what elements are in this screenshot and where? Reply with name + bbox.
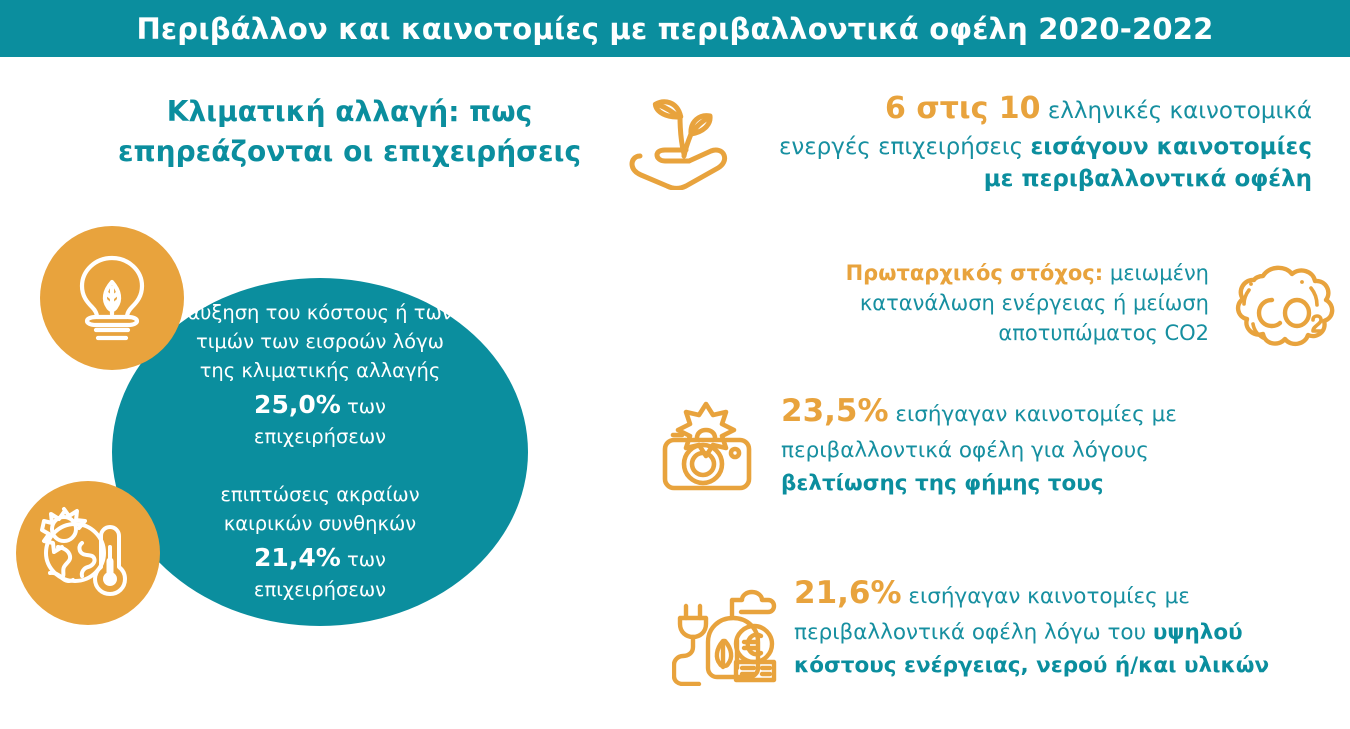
stat-block-primary-goal: Πρωταρχικός στόχος: μειωμένη κατανάλωση … — [790, 258, 1335, 366]
stat-4-line2-bold: υψηλού — [1153, 620, 1243, 645]
circle-cost-line-2: τιμών των εισροών λόγω — [187, 328, 452, 357]
stat-2-label: Πρωταρχικός στόχος: — [846, 261, 1104, 285]
energy-cost-icon — [672, 582, 778, 686]
circle-weather-value: 21,4% — [254, 543, 341, 572]
circle-weather-value-suffix: των — [341, 548, 386, 571]
stat-text-six-in-ten: 6 στις 10 ελληνικές καινοτομικά ενεργές … — [752, 88, 1312, 196]
camera-flash-icon — [655, 396, 759, 496]
stat-1-value-tail: ελληνικές καινοτομικά — [1041, 98, 1312, 124]
stat-4-line2-regular: περιβαλλοντικά οφέλη λόγω του — [794, 620, 1153, 645]
circle-cost-line-5: επιχειρήσεων — [187, 423, 452, 452]
stat-icon-wrapper-3 — [655, 396, 759, 500]
stat-2-line-3: αποτυπώματος CO2 — [790, 318, 1209, 348]
stat-text-primary-goal: Πρωταρχικός στόχος: μειωμένη κατανάλωση … — [790, 258, 1209, 349]
stat-3-value: 23,5% — [781, 393, 889, 429]
left-heading-line-2: επηρεάζονται οι επιχειρήσεις — [62, 132, 637, 172]
circle-stat-block-cost: αύξηση του κόστους ή των τιμών των εισρο… — [187, 299, 452, 451]
stat-3-line-1: 23,5% εισήγαγαν καινοτομίες με — [781, 388, 1261, 435]
circle-stat-block-weather: επιπτώσεις ακραίων καιρικών συνθηκών 21,… — [220, 481, 419, 605]
stat-1-line-3: με περιβαλλοντικά οφέλη — [752, 163, 1312, 196]
lightbulb-leaf-icon — [69, 252, 155, 344]
stat-block-energy-cost: 21,6% εισήγαγαν καινοτομίες με περιβαλλο… — [672, 570, 1342, 690]
stat-3-line-2: περιβαλλοντικά οφέλη για λόγους — [781, 435, 1261, 468]
stat-4-value: 21,6% — [794, 575, 902, 611]
stat-4-line-3: κόστους ενέργειας, νερού ή/και υλικών — [794, 650, 1314, 683]
circle-cost-value-row: 25,0% των — [187, 386, 452, 423]
stat-2-line-1: Πρωταρχικός στόχος: μειωμένη — [790, 258, 1209, 288]
hand-sprout-icon — [628, 94, 746, 190]
stat-4-line-1: 21,6% εισήγαγαν καινοτομίες με — [794, 570, 1314, 617]
left-heading-line-1: Κλιματική αλλαγή: πως — [62, 92, 637, 132]
stat-1-line-2: ενεργές επιχειρήσεις εισάγουν καινοτομίε… — [752, 131, 1312, 164]
page-title: Περιβάλλον και καινοτομίες με περιβαλλον… — [136, 12, 1213, 46]
circle-cost-value: 25,0% — [254, 390, 341, 419]
stat-2-label-tail: μειωμένη — [1103, 261, 1209, 285]
badge-extreme-weather — [16, 481, 160, 625]
sun-globe-thermometer-icon — [36, 503, 140, 603]
circle-cost-line-3: της κλιματικής αλλαγής — [187, 357, 452, 386]
stat-block-six-in-ten: 6 στις 10 ελληνικές καινοτομικά ενεργές … — [628, 88, 1318, 196]
stat-4-line-2: περιβαλλοντικά οφέλη λόγω του υψηλού — [794, 617, 1314, 650]
circle-cost-value-suffix: των — [341, 395, 386, 418]
stat-1-value: 6 στις 10 — [885, 91, 1041, 126]
circle-weather-line-2: καιρικών συνθηκών — [220, 510, 419, 539]
circle-weather-line-1: επιπτώσεις ακραίων — [220, 481, 419, 510]
stat-1-line2-bold: εισάγουν καινοτομίες — [1030, 134, 1312, 160]
stat-icon-wrapper-2 — [1227, 262, 1335, 366]
stat-icon-wrapper-1 — [628, 94, 746, 194]
stat-1-line2-regular: ενεργές επιχειρήσεις — [779, 134, 1031, 160]
co2-cloud-icon — [1227, 262, 1335, 362]
stat-4-value-tail: εισήγαγαν καινοτομίες με — [902, 584, 1190, 609]
header-bar: Περιβάλλον και καινοτομίες με περιβαλλον… — [0, 0, 1350, 57]
infographic-page: Περιβάλλον και καινοτομίες με περιβαλλον… — [0, 0, 1350, 729]
circle-weather-line-4: επιχειρήσεων — [220, 576, 419, 605]
badge-lightbulb — [40, 226, 184, 370]
stat-2-line-2: κατανάλωση ενέργειας ή μείωση — [790, 288, 1209, 318]
stat-text-energy-cost: 21,6% εισήγαγαν καινοτομίες με περιβαλλο… — [794, 570, 1314, 682]
stat-3-line-3: βελτίωσης της φήμης τους — [781, 468, 1261, 501]
stat-1-line-1: 6 στις 10 ελληνικές καινοτομικά — [752, 88, 1312, 131]
stat-block-reputation: 23,5% εισήγαγαν καινοτομίες με περιβαλλο… — [655, 388, 1315, 500]
stat-icon-wrapper-4 — [672, 582, 778, 690]
left-section-heading: Κλιματική αλλαγή: πως επηρεάζονται οι επ… — [62, 92, 637, 172]
circle-cost-line-1: αύξηση του κόστους ή των — [187, 299, 452, 328]
circle-weather-value-row: 21,4% των — [220, 539, 419, 576]
stat-text-reputation: 23,5% εισήγαγαν καινοτομίες με περιβαλλο… — [781, 388, 1261, 500]
stat-3-value-tail: εισήγαγαν καινοτομίες με — [889, 402, 1177, 427]
